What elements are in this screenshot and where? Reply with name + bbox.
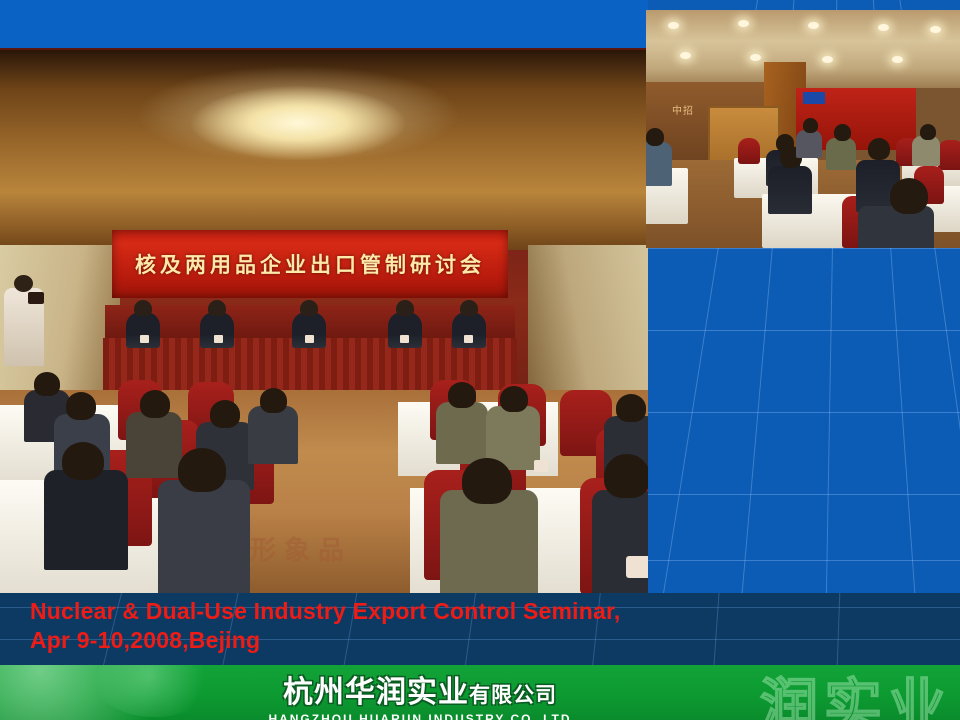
attendee-head — [62, 442, 104, 480]
inset-screen — [803, 92, 825, 104]
inset-attendee-head — [890, 178, 928, 214]
attendee-head — [462, 458, 512, 504]
company-name-cn-suffix: 有限公司 — [469, 684, 557, 707]
caption-line-2: Apr 9-10,2008,Bejing — [30, 626, 620, 655]
caption-band: Nuclear & Dual-Use Industry Export Contr… — [0, 593, 960, 665]
attendee-head — [616, 394, 646, 422]
tea-cup — [400, 335, 409, 343]
company-footer-banner: 润实业 杭州华润实业有限公司 HANGZHOU HUARUN INDUSTRY … — [0, 665, 960, 720]
inset-attendee-head — [834, 124, 851, 141]
attendee — [592, 490, 648, 594]
attendee-head — [500, 386, 528, 412]
company-name-cn-main: 杭州华润实业 — [283, 676, 469, 709]
attendee — [44, 470, 128, 570]
downlight-icon — [930, 26, 941, 33]
seminar-caption: Nuclear & Dual-Use Industry Export Contr… — [30, 597, 620, 654]
main-seminar-photo: 核及两用品企业出口管制研讨会 形象品 — [0, 48, 648, 595]
tea-cup — [626, 556, 648, 578]
downlight-icon — [822, 56, 833, 63]
attendee-head — [178, 448, 226, 492]
tea-cup — [464, 335, 473, 343]
inset-attendee-head — [868, 138, 890, 160]
attendee-head — [604, 454, 648, 498]
downlight-icon — [680, 52, 691, 59]
inset-attendee-head — [646, 128, 664, 146]
attendee — [158, 480, 250, 595]
attendee — [248, 406, 298, 464]
banner-chinese-title: 核及两用品企业出口管制研讨会 — [135, 249, 485, 279]
company-logo: 杭州华润实业有限公司 HANGZHOU HUARUN INDUSTRY CO.,… — [195, 667, 645, 720]
red-seminar-banner: 核及两用品企业出口管制研讨会 — [112, 230, 508, 298]
inset-attendee — [912, 136, 940, 166]
inset-attendee-head — [803, 118, 818, 133]
inset-chair — [938, 140, 960, 170]
downlight-icon — [668, 22, 679, 29]
inset-attendees-photo: 中招 — [646, 10, 960, 248]
company-name-cn: 杭州华润实业有限公司 — [195, 667, 645, 711]
downlight-icon — [892, 56, 903, 63]
downlight-icon — [878, 24, 889, 31]
attendee-head — [210, 400, 240, 428]
downlight-icon — [750, 54, 761, 61]
wall-logo-text: 中招 — [672, 102, 694, 117]
attendee-head — [260, 388, 287, 413]
attendee — [126, 412, 182, 478]
inset-attendee — [826, 138, 856, 170]
inset-attendee — [796, 130, 822, 158]
caption-line-1: Nuclear & Dual-Use Industry Export Contr… — [30, 597, 620, 626]
inset-attendee — [858, 206, 934, 248]
tea-cup — [140, 335, 149, 343]
inset-attendee — [768, 166, 812, 214]
attendee — [440, 490, 538, 595]
top-blue-strip — [0, 0, 648, 48]
inset-chair — [738, 138, 760, 164]
attendee — [436, 402, 488, 464]
company-name-en: HANGZHOU HUARUN INDUSTRY CO.,LTD — [195, 712, 645, 720]
downlight-icon — [738, 20, 749, 27]
downlight-icon — [808, 22, 819, 29]
attendee-head — [448, 382, 476, 408]
tea-cup — [305, 335, 314, 343]
attendee-head — [34, 372, 60, 396]
inset-attendee — [646, 142, 672, 186]
tea-cup — [214, 335, 223, 343]
attendee-head — [66, 392, 96, 420]
attendee-head — [140, 390, 170, 418]
footer-watermark: 润实业 — [760, 665, 952, 720]
inset-attendee-head — [920, 124, 936, 140]
tea-cup — [534, 460, 548, 472]
photographer — [4, 288, 44, 366]
slide-canvas: 核及两用品企业出口管制研讨会 形象品 — [0, 0, 960, 720]
